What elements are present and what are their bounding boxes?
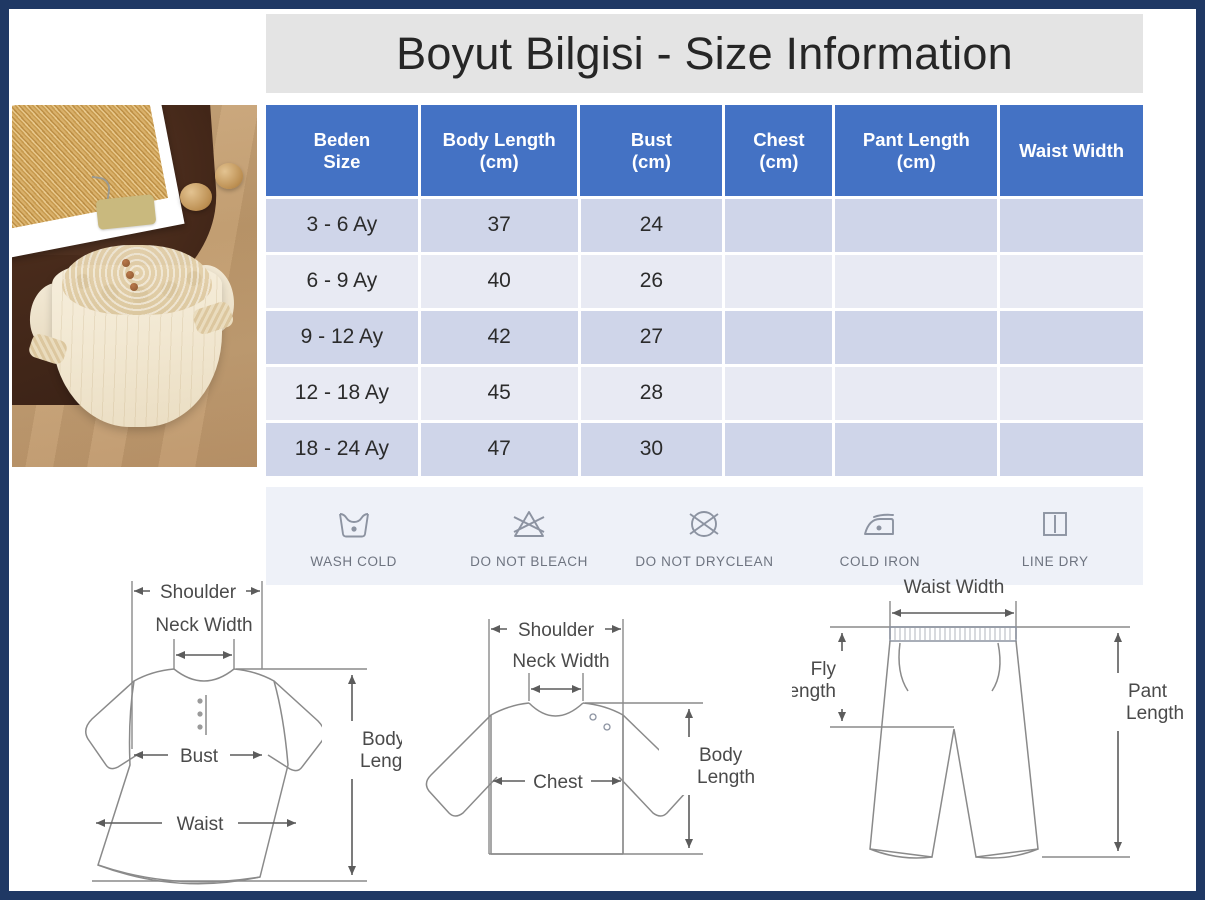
cell-waist-width bbox=[1000, 255, 1143, 308]
care-label: DO NOT BLEACH bbox=[470, 554, 588, 569]
photo-rattan-ball bbox=[180, 183, 212, 211]
column-header-line2: (cm) bbox=[632, 151, 671, 172]
column-header-chest: Chest (cm) bbox=[725, 105, 832, 196]
shirt-label-body-length-line2: Length bbox=[697, 767, 755, 788]
cell-bust: 30 bbox=[581, 423, 723, 476]
care-label: LINE DRY bbox=[1022, 554, 1089, 569]
do-not-dryclean-icon bbox=[686, 504, 722, 544]
dress-label-body-length-line2: Length bbox=[360, 751, 402, 772]
dress-label-body-length-line1: Body bbox=[362, 729, 402, 750]
cell-size: 9 - 12 Ay bbox=[266, 311, 418, 364]
cell-pant-length bbox=[835, 199, 997, 252]
shirt-label-chest: Chest bbox=[533, 772, 583, 793]
cell-size: 12 - 18 Ay bbox=[266, 367, 418, 420]
care-label: COLD IRON bbox=[840, 554, 920, 569]
shirt-label-shoulder: Shoulder bbox=[518, 620, 595, 641]
column-header-line2: (cm) bbox=[480, 151, 519, 172]
column-header-line2: Size bbox=[323, 151, 360, 172]
cell-bust: 24 bbox=[581, 199, 723, 252]
column-header-line1: Bust bbox=[631, 129, 672, 150]
pants-label-pant-length-line2: Length bbox=[1126, 703, 1184, 724]
cell-pant-length bbox=[835, 423, 997, 476]
photo-rattan-ball bbox=[215, 163, 243, 189]
shirt-measurement-diagram: Shoulder Neck Width bbox=[397, 569, 757, 899]
photo-dress bbox=[34, 213, 234, 428]
size-table: Beden Size Body Length (cm) Bust (cm) bbox=[266, 105, 1143, 467]
shirt-label-body-length-line1: Body bbox=[699, 745, 743, 766]
column-header-pant-length: Pant Length (cm) bbox=[835, 105, 997, 196]
cell-size: 18 - 24 Ay bbox=[266, 423, 418, 476]
column-header-line1: Waist Width bbox=[1019, 140, 1124, 161]
care-label: WASH COLD bbox=[310, 554, 397, 569]
cell-body-length: 47 bbox=[421, 423, 578, 476]
page-title: Boyut Bilgisi - Size Information bbox=[396, 28, 1013, 80]
cell-chest bbox=[725, 255, 832, 308]
column-header-size: Beden Size bbox=[266, 105, 418, 196]
care-item-cold-iron: COLD IRON bbox=[797, 504, 962, 569]
pants-measurement-diagram: Waist Width bbox=[792, 569, 1192, 899]
title-band: Boyut Bilgisi - Size Information bbox=[266, 14, 1143, 93]
column-header-waist-width: Waist Width bbox=[1000, 105, 1143, 196]
cell-pant-length bbox=[835, 255, 997, 308]
size-chart-frame: Boyut Bilgisi - Size Information bbox=[0, 0, 1205, 900]
line-dry-icon bbox=[1039, 504, 1071, 544]
cell-waist-width bbox=[1000, 367, 1143, 420]
dress-measurement-diagram: Shoulder Neck Width bbox=[22, 569, 402, 899]
do-not-bleach-icon bbox=[510, 504, 548, 544]
cell-size: 6 - 9 Ay bbox=[266, 255, 418, 308]
photo-dress-button bbox=[122, 259, 130, 267]
table-row: 12 - 18 Ay 45 28 bbox=[266, 367, 1143, 420]
care-item-do-not-dryclean: DO NOT DRYCLEAN bbox=[622, 504, 787, 569]
table-row: 9 - 12 Ay 42 27 bbox=[266, 311, 1143, 364]
photo-dress-lace-collar bbox=[62, 245, 212, 315]
dress-label-waist: Waist bbox=[177, 814, 225, 835]
column-header-line1: Body Length bbox=[443, 129, 556, 150]
cell-chest bbox=[725, 311, 832, 364]
cell-bust: 26 bbox=[581, 255, 723, 308]
table-header-row: Beden Size Body Length (cm) Bust (cm) bbox=[266, 105, 1143, 196]
column-header-line1: Pant Length bbox=[863, 129, 970, 150]
cell-pant-length bbox=[835, 367, 997, 420]
size-chart-stage: Boyut Bilgisi - Size Information bbox=[9, 9, 1196, 891]
cell-waist-width bbox=[1000, 423, 1143, 476]
cell-body-length: 37 bbox=[421, 199, 578, 252]
cell-body-length: 45 bbox=[421, 367, 578, 420]
cold-iron-icon bbox=[860, 504, 900, 544]
table-row: 3 - 6 Ay 37 24 bbox=[266, 199, 1143, 252]
column-header-line2: (cm) bbox=[897, 151, 936, 172]
care-item-do-not-bleach: DO NOT BLEACH bbox=[447, 504, 612, 569]
cell-bust: 28 bbox=[581, 367, 723, 420]
dress-label-shoulder: Shoulder bbox=[160, 582, 237, 603]
care-item-line-dry: LINE DRY bbox=[973, 504, 1138, 569]
column-header-bust: Bust (cm) bbox=[580, 105, 722, 196]
pants-label-waist-width: Waist Width bbox=[904, 577, 1005, 598]
table-row: 6 - 9 Ay 40 26 bbox=[266, 255, 1143, 308]
pants-label-fly-length-line2: Length bbox=[792, 681, 836, 702]
column-header-body-length: Body Length (cm) bbox=[421, 105, 578, 196]
photo-dress-button bbox=[130, 283, 138, 291]
care-item-wash-cold: WASH COLD bbox=[271, 504, 436, 569]
measurement-diagrams: Shoulder Neck Width bbox=[12, 569, 1193, 899]
pants-label-pant-length-line1: Pant bbox=[1128, 681, 1168, 702]
cell-waist-width bbox=[1000, 311, 1143, 364]
column-header-line1: Beden bbox=[314, 129, 371, 150]
shirt-label-neck-width: Neck Width bbox=[512, 651, 609, 672]
table-row: 18 - 24 Ay 47 30 bbox=[266, 423, 1143, 476]
cell-body-length: 40 bbox=[421, 255, 578, 308]
cell-pant-length bbox=[835, 311, 997, 364]
cell-size: 3 - 6 Ay bbox=[266, 199, 418, 252]
cell-waist-width bbox=[1000, 199, 1143, 252]
cell-bust: 27 bbox=[581, 311, 723, 364]
cell-body-length: 42 bbox=[421, 311, 578, 364]
photo-dress-button bbox=[126, 271, 134, 279]
care-label: DO NOT DRYCLEAN bbox=[635, 554, 773, 569]
column-header-line1: Chest bbox=[753, 129, 804, 150]
cell-chest bbox=[725, 199, 832, 252]
pants-label-fly-length-line1: Fly bbox=[811, 659, 837, 680]
cell-chest bbox=[725, 423, 832, 476]
dress-label-bust: Bust bbox=[180, 746, 219, 767]
wash-cold-icon bbox=[336, 504, 372, 544]
column-header-line2: (cm) bbox=[759, 151, 798, 172]
cell-chest bbox=[725, 367, 832, 420]
dress-label-neck-width: Neck Width bbox=[155, 615, 252, 636]
product-photo bbox=[12, 105, 257, 467]
